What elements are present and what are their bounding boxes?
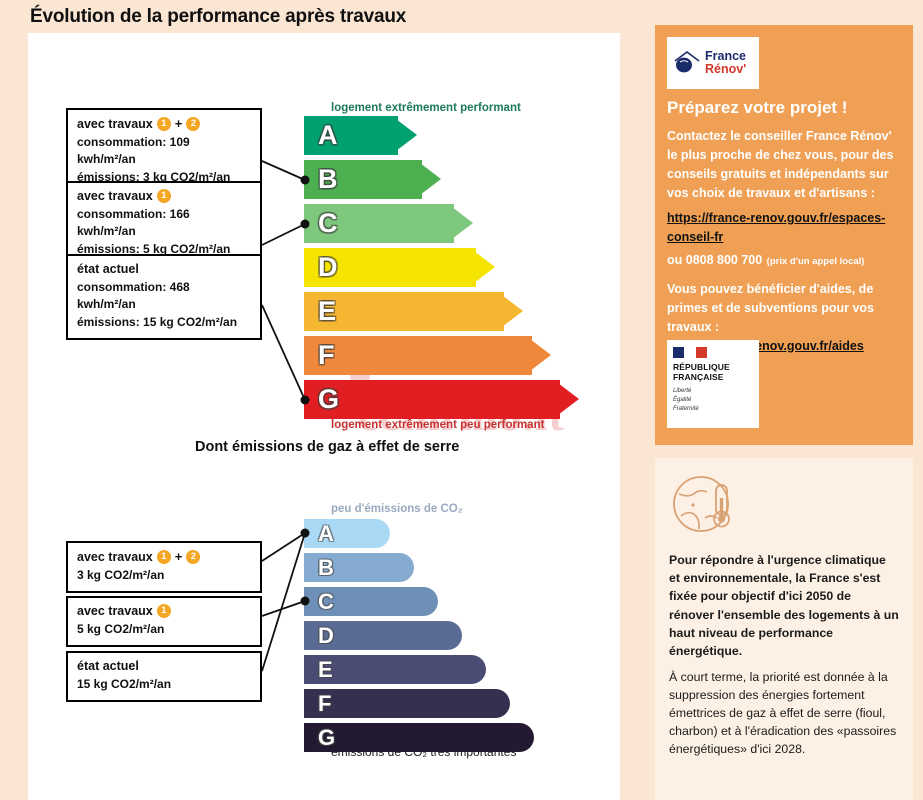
badge-1: 1: [157, 117, 171, 131]
info-box-ges-etat-actuel[interactable]: état actuel 15 kg CO2/m²/an: [66, 651, 262, 702]
climate-info-card: Pour répondre à l'urgence climatique et …: [655, 458, 913, 800]
renov-phone: ou 0808 800 700: [667, 253, 762, 267]
house-icon: [672, 48, 702, 78]
energy-bar-e[interactable]: E: [304, 292, 504, 331]
climate-paragraph-2: À court terme, la priorité est donnée à …: [669, 669, 899, 759]
ges-bar-e-label: E: [318, 659, 333, 681]
ges-top-caption: peu d'émissions de CO₂: [331, 503, 463, 515]
climate-paragraph-1: Pour répondre à l'urgence climatique et …: [669, 551, 899, 660]
energy-bottom-caption: logement extrêmement peu performant: [331, 419, 544, 431]
arrow-tip-icon: [470, 248, 495, 286]
badge-2: 2: [186, 117, 200, 131]
ges-bar-c-label: C: [318, 591, 334, 613]
energy-bar-f[interactable]: F: [304, 336, 532, 375]
info-box-title: avec travaux 1 + 2: [77, 116, 251, 131]
info-box-title-text: avec travaux: [77, 189, 153, 203]
france-renov-logo: France Rénov': [667, 37, 759, 89]
info-box-consommation: consommation: 468 kwh/m²/an: [77, 279, 251, 314]
badge-1: 1: [157, 189, 171, 203]
france-renov-logo-text: France Rénov': [705, 50, 746, 76]
republique-motto: Liberté Égalité Fraternité: [673, 387, 753, 414]
energy-bar-d[interactable]: D: [304, 248, 476, 287]
energy-bar-a[interactable]: A: [304, 116, 398, 155]
arrow-tip-icon: [498, 292, 523, 330]
info-box-consommation: consommation: 166 kwh/m²/an: [77, 206, 251, 241]
france-renov-card: France Rénov' Préparez votre projet ! Co…: [655, 25, 913, 445]
info-box-ges-avec-travaux-1-2[interactable]: avec travaux 1 + 2 3 kg CO2/m²/an: [66, 541, 262, 593]
dpe-chart-panel: ccimmo.it logement extrêmement performan…: [28, 33, 620, 800]
ges-bar-b[interactable]: B: [304, 553, 414, 582]
ges-bar-b-label: B: [318, 557, 334, 579]
badge-separator: +: [175, 549, 183, 564]
info-box-title-text: avec travaux: [77, 604, 153, 618]
ges-bar-f[interactable]: F: [304, 689, 510, 718]
badge-2: 2: [186, 550, 200, 564]
ges-bar-f-label: F: [318, 693, 331, 715]
ges-bar-a-label: A: [318, 523, 334, 545]
page-title: Évolution de la performance après travau…: [30, 6, 406, 28]
arrow-tip-icon: [448, 204, 473, 242]
badge-1: 1: [157, 604, 171, 618]
info-box-ges-avec-travaux-1[interactable]: avec travaux 1 5 kg CO2/m²/an: [66, 596, 262, 647]
info-box-title-text: avec travaux: [77, 550, 153, 564]
energy-bar-f-label: F: [318, 342, 335, 369]
republique-line-1: RÉPUBLIQUE: [673, 362, 753, 372]
renov-heading: Préparez votre projet !: [667, 98, 901, 118]
info-box-title: état actuel: [77, 659, 251, 673]
badge-1: 1: [157, 550, 171, 564]
ges-bar-d[interactable]: D: [304, 621, 462, 650]
logo-line-2: Rénov': [705, 63, 746, 76]
info-box-emissions: émissions: 15 kg CO2/m²/an: [77, 314, 251, 331]
info-box-title-text: avec travaux: [77, 117, 153, 131]
energy-bar-c[interactable]: C: [304, 204, 454, 243]
energy-bar-b-label: B: [318, 166, 338, 193]
energy-top-caption: logement extrêmement performant: [331, 102, 521, 114]
info-box-title: avec travaux 1: [77, 604, 251, 618]
energy-bar-g-label: G: [318, 386, 339, 413]
info-box-emissions: 3 kg CO2/m²/an: [77, 567, 251, 584]
ges-bar-a[interactable]: A: [304, 519, 390, 548]
info-box-title-text: état actuel: [77, 659, 139, 673]
republique-line-2: FRANÇAISE: [673, 372, 753, 382]
info-box-consommation: consommation: 109 kwh/m²/an: [77, 134, 251, 169]
energy-bar-a-label: A: [318, 122, 338, 149]
energy-bar-e-label: E: [318, 298, 336, 325]
info-box-title: avec travaux 1: [77, 189, 251, 203]
renov-link-espaces-conseil[interactable]: https://france-renov.gouv.fr/espaces-con…: [667, 209, 901, 247]
renov-paragraph-2: Vous pouvez bénéficier d'aides, de prime…: [667, 280, 901, 337]
energy-bar-b[interactable]: B: [304, 160, 422, 199]
dpe-page: Évolution de la performance après travau…: [0, 0, 923, 800]
badge-separator: +: [175, 116, 183, 131]
ges-bar-g-label: G: [318, 727, 335, 749]
energy-bar-g[interactable]: G: [304, 380, 560, 419]
renov-phone-row: ou 0808 800 700 (prix d'un appel local): [667, 251, 901, 270]
french-flag-icon: [673, 347, 707, 358]
arrow-tip-icon: [392, 116, 417, 154]
energy-bar-c-label: C: [318, 210, 338, 237]
info-box-emissions: 15 kg CO2/m²/an: [77, 676, 251, 693]
renov-paragraph-1: Contactez le conseiller France Rénov' le…: [667, 127, 901, 203]
ges-section-title: Dont émissions de gaz à effet de serre: [195, 439, 459, 455]
arrow-tip-icon: [554, 380, 579, 418]
ges-bar-c[interactable]: C: [304, 587, 438, 616]
globe-thermometer-icon: [669, 472, 741, 538]
republique-francaise-logo: RÉPUBLIQUE FRANÇAISE Liberté Égalité Fra…: [667, 340, 759, 428]
arrow-tip-icon: [416, 160, 441, 198]
arrow-tip-icon: [526, 336, 551, 374]
renov-phone-note: (prix d'un appel local): [767, 256, 865, 267]
info-box-title: avec travaux 1 + 2: [77, 549, 251, 564]
energy-bar-d-label: D: [318, 254, 338, 281]
info-box-emissions: 5 kg CO2/m²/an: [77, 621, 251, 638]
ges-bar-g[interactable]: G: [304, 723, 534, 752]
ges-bar-d-label: D: [318, 625, 334, 647]
info-box-title: état actuel: [77, 262, 251, 276]
info-box-title-text: état actuel: [77, 262, 139, 276]
ges-bar-e[interactable]: E: [304, 655, 486, 684]
info-box-etat-actuel[interactable]: état actuel consommation: 468 kwh/m²/an …: [66, 254, 262, 340]
